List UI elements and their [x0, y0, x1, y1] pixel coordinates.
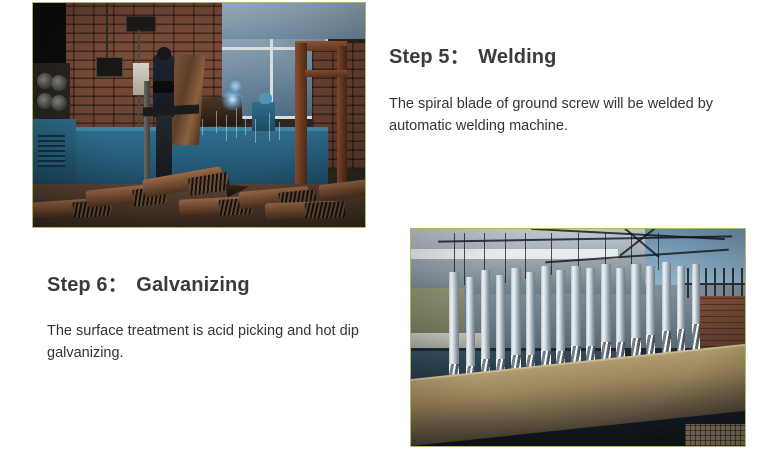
step-5-separator: ： [450, 46, 473, 68]
dark-corner [33, 3, 66, 70]
welding-workshop-photo [32, 2, 366, 228]
floor-grate [685, 424, 745, 446]
vertical-stand-post [144, 81, 149, 189]
step-5-number: Step 5 [389, 46, 450, 68]
step-5-text-block: Step 5： Welding The spiral blade of grou… [389, 40, 749, 138]
wall-conduit [106, 3, 108, 61]
step-5-title: Step 5： Welding [389, 40, 749, 69]
window-upper-transom [219, 3, 365, 39]
wall-lamp [126, 16, 156, 32]
step-5-description: The spiral blade of ground screw will be… [389, 93, 719, 138]
step-6-text-block: Step 6： Galvanizing The surface treatmen… [47, 268, 407, 365]
product-process-slide: Step 5： Welding The spiral blade of grou… [0, 0, 780, 455]
steel-frame-post-right [337, 46, 347, 189]
steel-frame-crossbar [305, 70, 347, 77]
galvanizing-photo [410, 228, 746, 447]
step-6-name: Galvanizing [136, 274, 249, 296]
step-5-name: Welding [478, 46, 556, 68]
coil-shelf [33, 63, 70, 121]
machine-control-panel [38, 133, 65, 167]
wall-electrical-box [96, 57, 123, 77]
welding-arc-glow [229, 77, 242, 95]
welding-photo-content [33, 3, 365, 227]
galvanizing-photo-content [411, 229, 745, 446]
step-6-separator: ： [108, 274, 131, 296]
step-6-description: The surface treatment is acid picking an… [47, 320, 387, 365]
welding-helmet [259, 93, 272, 104]
fence-rail [678, 283, 745, 285]
worker-head [157, 47, 171, 60]
step-6-title: Step 6： Galvanizing [47, 268, 407, 297]
step-6-number: Step 6 [47, 274, 108, 296]
steel-frame-post-left [295, 43, 306, 191]
screw-blade [305, 202, 345, 219]
worker-belt-pouch [153, 81, 175, 92]
